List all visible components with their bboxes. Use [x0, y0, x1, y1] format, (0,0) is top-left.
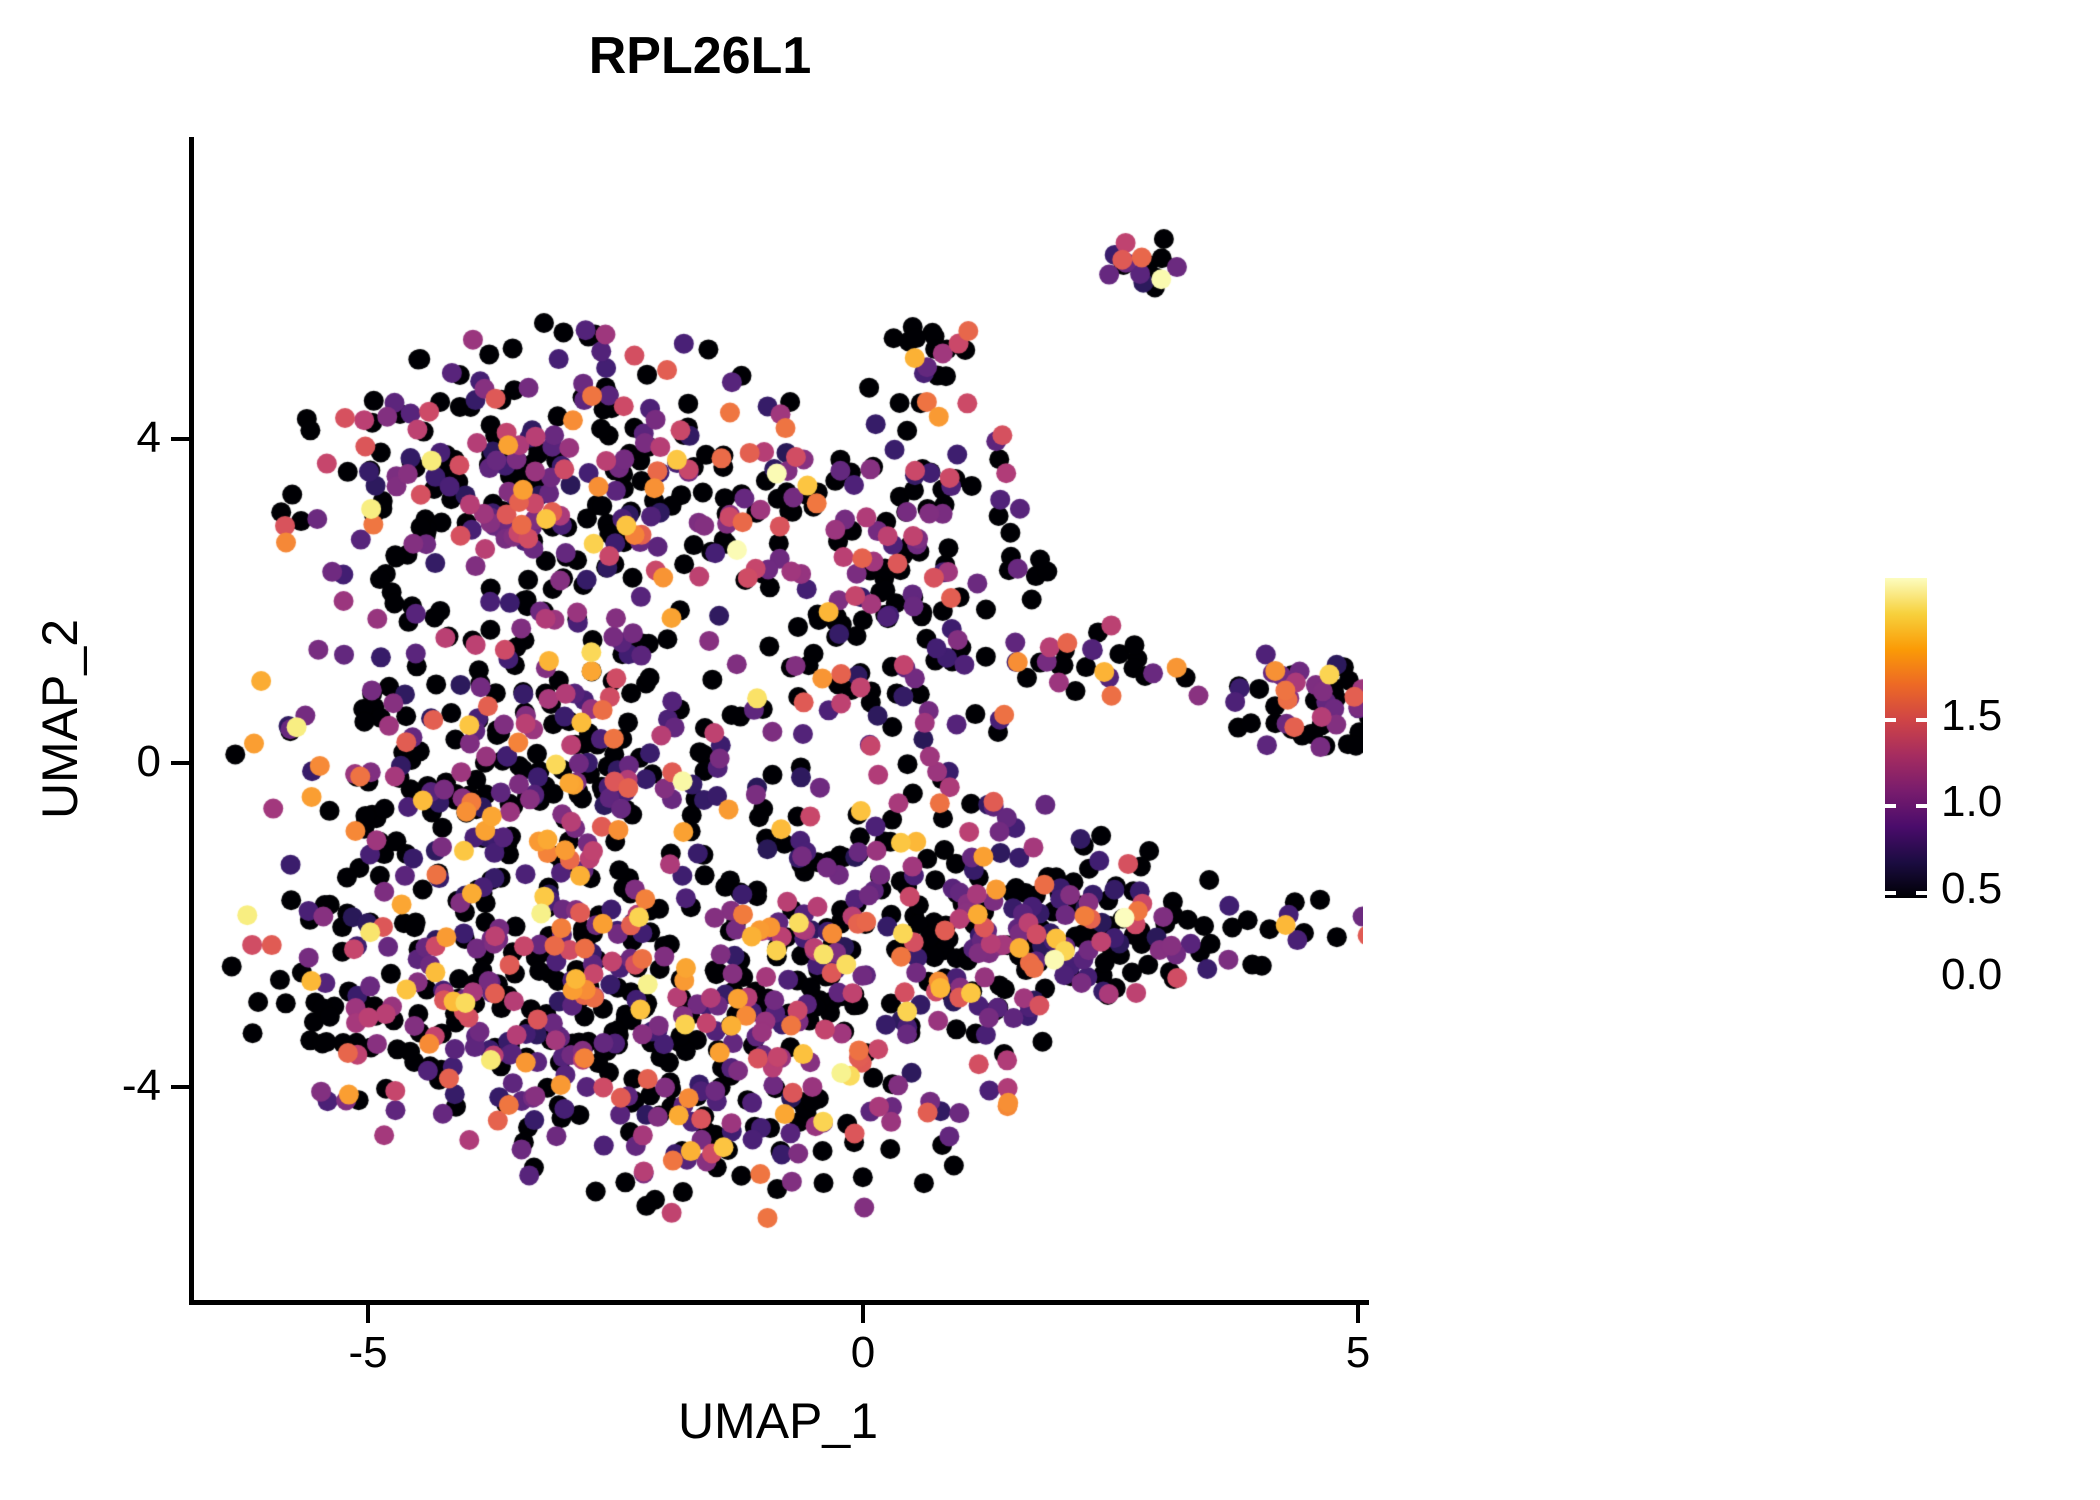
colorbar-legend: 1.5 1.0 0.5 0.0 — [1885, 578, 2075, 898]
y-tick-mark — [171, 437, 189, 441]
colorbar-tick-label: 0.5 — [1941, 864, 2002, 914]
x-tick-label: -5 — [308, 1328, 428, 1378]
x-tick-label: 0 — [803, 1328, 923, 1378]
colorbar-tick-label: 0.0 — [1941, 950, 2002, 1000]
colorbar-tick — [1916, 718, 1927, 722]
colorbar-tick — [1916, 891, 1927, 895]
plot-panel — [193, 135, 1363, 1303]
y-tick-mark — [171, 761, 189, 765]
y-axis-line — [189, 137, 194, 1305]
x-tick-mark — [1356, 1305, 1360, 1323]
colorbar-tick-label: 1.5 — [1941, 691, 2002, 741]
y-axis-title: UMAP_2 — [31, 369, 89, 1069]
colorbar-tick — [1885, 804, 1896, 808]
colorbar-tick — [1885, 891, 1896, 895]
y-tick-mark — [171, 1085, 189, 1089]
colorbar-gradient — [1885, 578, 1927, 898]
x-axis-title: UMAP_1 — [193, 1392, 1363, 1450]
colorbar-tick — [1885, 718, 1896, 722]
x-tick-label: 5 — [1298, 1328, 1418, 1378]
colorbar-tick — [1916, 804, 1927, 808]
x-tick-mark — [861, 1305, 865, 1323]
colorbar-tick-label: 1.0 — [1941, 777, 2002, 827]
x-tick-mark — [366, 1305, 370, 1323]
umap-feature-plot: RPL26L1 -5 0 5 4 0 -4 UMAP_1 UMAP_2 1.5 … — [0, 0, 2100, 1500]
scatter-plot-canvas — [193, 135, 1363, 1303]
page-title: RPL26L1 — [0, 26, 1400, 86]
